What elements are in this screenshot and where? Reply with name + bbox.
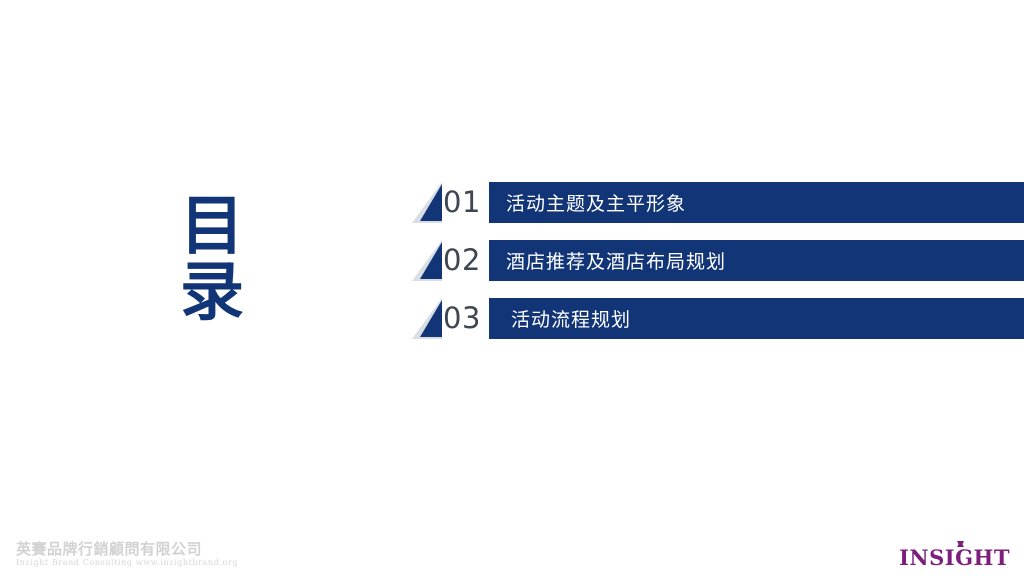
toc-item-number: 02	[442, 240, 489, 281]
page-title: 目 录	[180, 196, 250, 328]
toc-item-01[interactable]: 01 活动主题及主平形象	[412, 182, 1024, 223]
footer-company-cn: 英賽品牌行銷顧問有限公司	[16, 540, 238, 558]
toc-item-number: 03	[442, 298, 489, 339]
triangle-marker-icon	[412, 240, 442, 281]
toc-item-bar[interactable]: 酒店推荐及酒店布局规划	[489, 240, 1024, 281]
toc-item-number: 01	[442, 182, 489, 223]
footer-brand: 英賽品牌行銷顧問有限公司 Insight Brand Consulting ww…	[16, 540, 238, 568]
toc-item-label: 酒店推荐及酒店布局规划	[506, 247, 726, 274]
slide-canvas: 目 录 01 活动主题及主平形象 02	[0, 0, 1024, 576]
toc-item-03[interactable]: 03 活动流程规划	[412, 298, 1024, 339]
page-title-char-2: 录	[180, 262, 244, 328]
logo-text: INSIGHT	[899, 547, 1010, 568]
toc-item-label: 活动主题及主平形象	[506, 189, 686, 216]
toc-list: 01 活动主题及主平形象 02 酒店推荐及酒店布局规划	[412, 182, 1024, 356]
triangle-marker-icon	[412, 298, 442, 339]
toc-item-02[interactable]: 02 酒店推荐及酒店布局规划	[412, 240, 1024, 281]
footer-company-en: Insight Brand Consulting www.insightbran…	[16, 558, 238, 568]
toc-item-label: 活动流程规划	[511, 305, 631, 332]
insight-logo: INSIGHT	[899, 541, 1010, 568]
page-title-char-1: 目	[180, 196, 244, 262]
toc-item-bar[interactable]: 活动流程规划	[489, 298, 1024, 339]
triangle-marker-icon	[412, 182, 442, 223]
toc-item-bar[interactable]: 活动主题及主平形象	[489, 182, 1024, 223]
logo-mark-icon	[957, 541, 964, 547]
